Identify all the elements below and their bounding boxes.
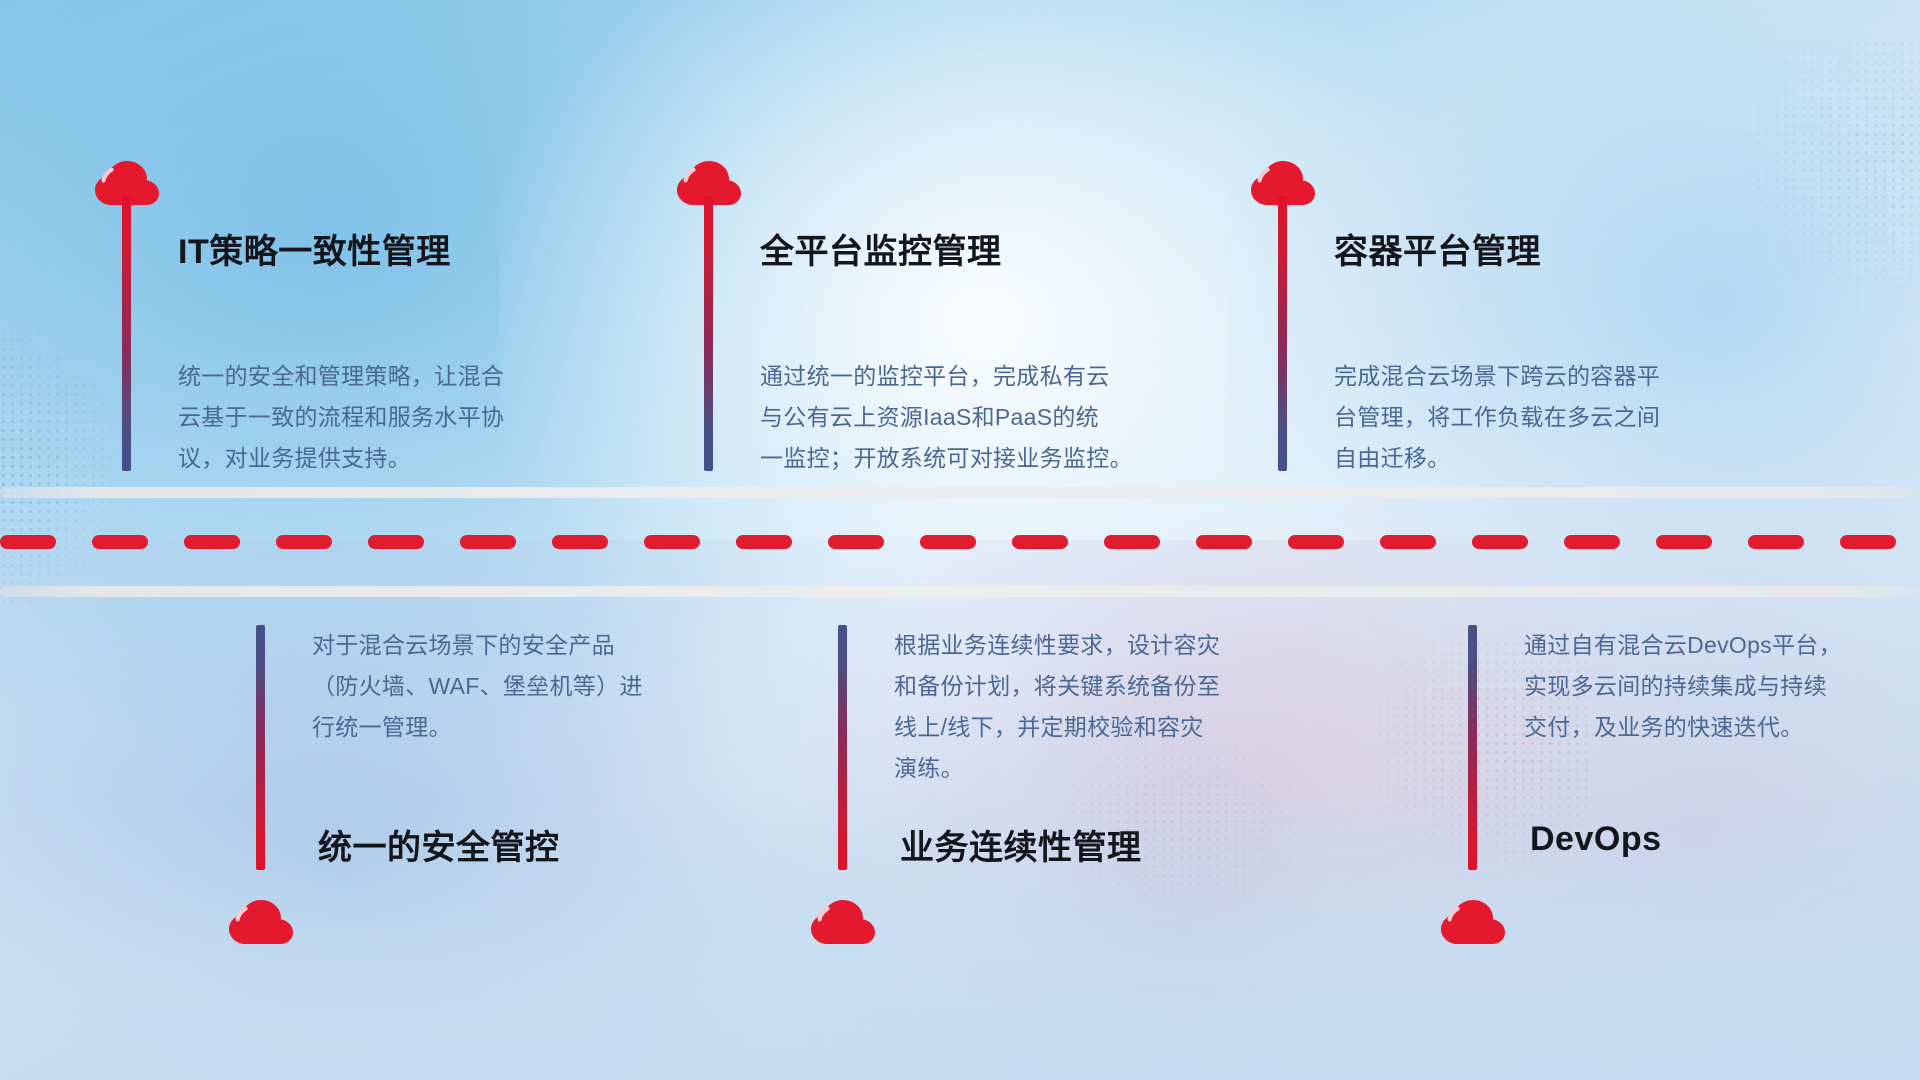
road-dash xyxy=(0,535,56,549)
body-line: 议，对业务提供支持。 xyxy=(178,438,608,479)
card-title: 容器平台管理 xyxy=(1334,224,1541,273)
card-body: 完成混合云场景下跨云的容器平 台管理，将工作负载在多云之间 自由迁移。 xyxy=(1334,356,1764,479)
body-line: 演练。 xyxy=(894,748,1334,789)
card-title: 统一的安全管控 xyxy=(318,820,560,869)
body-line: 实现多云间的持续集成与持续 xyxy=(1524,666,1920,707)
body-line: 云基于一致的流程和服务水平协 xyxy=(178,397,608,438)
body-line: 通过自有混合云DevOps平台， xyxy=(1524,625,1920,666)
road-dash xyxy=(460,535,516,549)
card-body: 统一的安全和管理策略，让混合 云基于一致的流程和服务水平协 议，对业务提供支持。 xyxy=(178,356,608,479)
bottom-card-2: 根据业务连续性要求，设计容灾 和备份计划，将关键系统备份至 线上/线下，并定期校… xyxy=(640,597,1280,1080)
road-dash xyxy=(1196,535,1252,549)
road-dash xyxy=(92,535,148,549)
road-dash xyxy=(552,535,608,549)
road-dash xyxy=(1104,535,1160,549)
bottom-card-3: 通过自有混合云DevOps平台， 实现多云间的持续集成与持续 交付，及业务的快速… xyxy=(1280,597,1920,1080)
road-dash xyxy=(828,535,884,549)
body-line: 台管理，将工作负载在多云之间 xyxy=(1334,397,1764,438)
road-dash xyxy=(1840,535,1896,549)
cloud-pin-icon xyxy=(228,897,294,945)
stem-line xyxy=(838,625,847,870)
body-line: 自由迁移。 xyxy=(1334,438,1764,479)
road-dash xyxy=(1012,535,1068,549)
road-dash xyxy=(1472,535,1528,549)
top-card-3: 容器平台管理 完成混合云场景下跨云的容器平 台管理，将工作负载在多云之间 自由迁… xyxy=(1210,0,1920,487)
stem-line xyxy=(1278,196,1287,471)
road-dash xyxy=(1656,535,1712,549)
body-line: 通过统一的监控平台，完成私有云 xyxy=(760,356,1210,397)
road-dash xyxy=(1748,535,1804,549)
body-line: 和备份计划，将关键系统备份至 xyxy=(894,666,1334,707)
card-title: DevOps xyxy=(1530,820,1662,859)
top-card-2: 全平台监控管理 通过统一的监控平台，完成私有云 与公有云上资源IaaS和PaaS… xyxy=(640,0,1280,487)
stem-line xyxy=(122,196,131,471)
body-line: 完成混合云场景下跨云的容器平 xyxy=(1334,356,1764,397)
body-line: 根据业务连续性要求，设计容灾 xyxy=(894,625,1334,666)
road-dash xyxy=(1288,535,1344,549)
card-title: 全平台监控管理 xyxy=(760,224,1002,273)
body-line: 交付，及业务的快速迭代。 xyxy=(1524,707,1920,748)
stem-line xyxy=(256,625,265,870)
cloud-pin-icon xyxy=(810,897,876,945)
road-dash xyxy=(920,535,976,549)
card-body: 根据业务连续性要求，设计容灾 和备份计划，将关键系统备份至 线上/线下，并定期校… xyxy=(894,625,1334,789)
card-body: 通过自有混合云DevOps平台， 实现多云间的持续集成与持续 交付，及业务的快速… xyxy=(1524,625,1920,748)
road-divider xyxy=(0,487,1920,597)
road-dash xyxy=(736,535,792,549)
body-line: 与公有云上资源IaaS和PaaS的统 xyxy=(760,397,1210,438)
road-dash xyxy=(276,535,332,549)
road-dash xyxy=(184,535,240,549)
road-center-dashes xyxy=(0,535,1920,549)
top-card-1: IT策略一致性管理 统一的安全和管理策略，让混合 云基于一致的流程和服务水平协 … xyxy=(0,0,640,487)
stem-line xyxy=(1468,625,1477,870)
card-title: 业务连续性管理 xyxy=(900,820,1142,869)
cloud-pin-icon xyxy=(1440,897,1506,945)
road-edge-top-line xyxy=(0,487,1920,498)
bottom-card-1: 对于混合云场景下的安全产品 （防火墙、WAF、堡垒机等）进 行统一管理。 统一的… xyxy=(0,597,640,1080)
stem-line xyxy=(704,196,713,471)
road-edge-bottom-line xyxy=(0,586,1920,597)
body-line: 统一的安全和管理策略，让混合 xyxy=(178,356,608,397)
road-dash xyxy=(644,535,700,549)
road-dash xyxy=(1564,535,1620,549)
card-body: 通过统一的监控平台，完成私有云 与公有云上资源IaaS和PaaS的统 一监控；开… xyxy=(760,356,1210,479)
road-dash xyxy=(368,535,424,549)
body-line: 线上/线下，并定期校验和容灾 xyxy=(894,707,1334,748)
body-line: 一监控；开放系统可对接业务监控。 xyxy=(760,438,1210,479)
road-dash xyxy=(1380,535,1436,549)
card-title: IT策略一致性管理 xyxy=(178,224,451,273)
